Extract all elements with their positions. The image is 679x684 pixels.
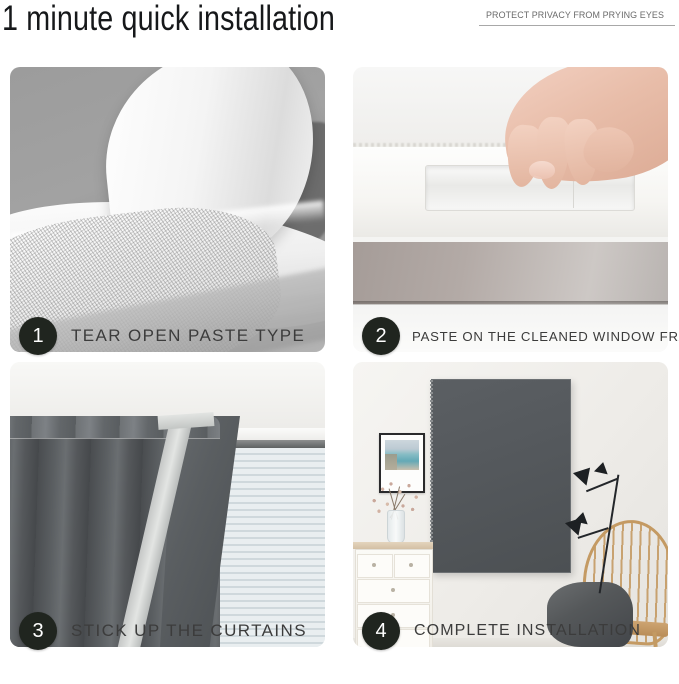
step-3-caption-row: 3 STICK UP THE CURTAINS xyxy=(10,605,325,657)
step-2-badge: 2 xyxy=(362,317,400,355)
step-1-caption: TEAR OPEN PASTE TYPE xyxy=(71,326,305,346)
page-header: 1 minute quick installation PROTECT PRIV… xyxy=(0,0,679,60)
step-3-badge: 3 xyxy=(19,612,57,650)
step-card-4: 4 COMPLETE INSTALLATION xyxy=(353,362,668,647)
step-2-caption: PASTE ON THE CLEANED WINDOW FRAME xyxy=(412,329,679,344)
step-3-caption: STICK UP THE CURTAINS xyxy=(71,621,307,641)
step-4-caption-row: 4 COMPLETE INSTALLATION xyxy=(353,605,668,657)
step-card-1: 1 TEAR OPEN PASTE TYPE xyxy=(10,67,325,352)
photo4-knob-1 xyxy=(372,563,376,567)
tagline-underline xyxy=(479,25,675,26)
photo4-artwork-image xyxy=(385,440,419,470)
photo4-dresser-top xyxy=(353,542,433,549)
photo2-fingernail xyxy=(529,161,555,179)
photo4-glass-vase xyxy=(387,510,405,544)
step-1-caption-row: 1 TEAR OPEN PASTE TYPE xyxy=(10,310,325,362)
step-card-3: 3 STICK UP THE CURTAINS xyxy=(10,362,325,647)
steps-grid: 1 TEAR OPEN PASTE TYPE 2 PASTE ON THE CL… xyxy=(10,67,669,667)
step-4-caption: COMPLETE INSTALLATION xyxy=(414,622,641,640)
step-4-badge: 4 xyxy=(362,612,400,650)
page-title: 1 minute quick installation xyxy=(2,0,335,39)
tagline-block: PROTECT PRIVACY FROM PRYING EYES xyxy=(475,10,675,26)
photo4-knob-3 xyxy=(391,588,395,592)
tagline-text: PROTECT PRIVACY FROM PRYING EYES xyxy=(481,10,669,21)
step-1-badge: 1 xyxy=(19,317,57,355)
photo4-knob-2 xyxy=(409,563,413,567)
photo2-grey-band xyxy=(353,242,668,304)
step-2-caption-row: 2 PASTE ON THE CLEANED WINDOW FRAME xyxy=(353,310,668,362)
photo4-blackout-panel xyxy=(431,379,571,573)
step-card-2: 2 PASTE ON THE CLEANED WINDOW FRAME xyxy=(353,67,668,352)
